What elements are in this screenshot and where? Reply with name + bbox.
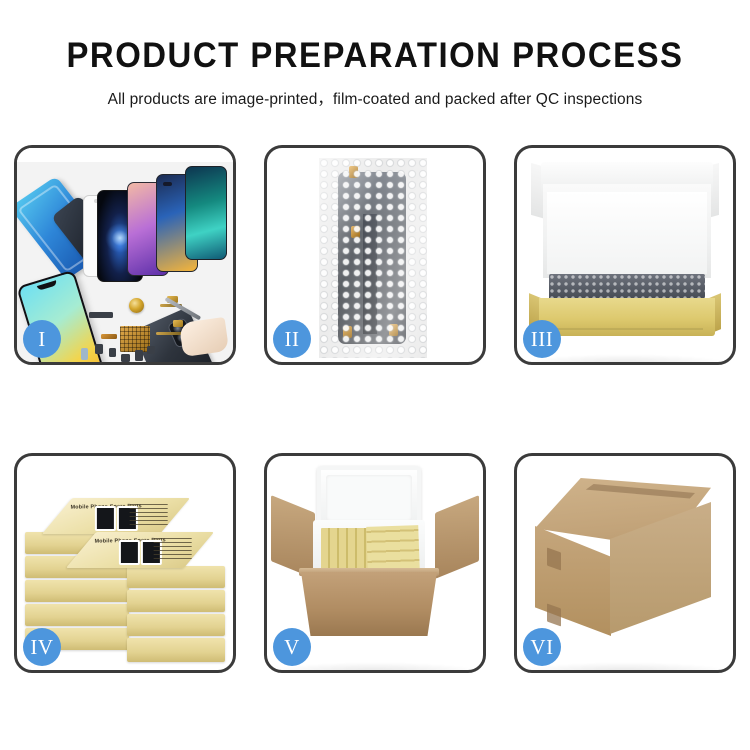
speaker-part — [129, 298, 144, 313]
process-step-panel-2: II — [264, 145, 486, 365]
step-badge-2: II — [273, 320, 311, 358]
foam-sheet-image — [547, 192, 707, 274]
bubble-bag-image — [319, 158, 427, 358]
step-badge-1: I — [23, 320, 61, 358]
connector-grid-part — [120, 326, 150, 352]
printed-box-lid-rear: Mobile Phone Spare Parts — [42, 498, 190, 534]
process-step-panel-1: I — [14, 145, 236, 365]
process-step-panel-5: V — [264, 453, 486, 673]
sim-tray-part — [81, 348, 88, 360]
small-part-1 — [95, 344, 103, 354]
bubble-wrapped-item-image — [549, 274, 705, 300]
small-part-2 — [109, 348, 116, 357]
step-badge-5: V — [273, 628, 311, 666]
copper-part — [101, 334, 117, 339]
tape-strip-lower — [547, 603, 561, 626]
small-part-5 — [147, 346, 155, 354]
process-step-panel-4: Mobile Phone Spare Parts Mobile Phone Sp… — [14, 453, 236, 673]
small-part-4 — [135, 350, 143, 361]
process-step-panel-3: III — [514, 145, 736, 365]
process-step-panel-6: VI — [514, 453, 736, 673]
gold-part-2 — [173, 320, 183, 327]
carton-front-image — [301, 572, 437, 636]
kraft-box-front-image — [539, 298, 715, 336]
flex-cable-part-2 — [156, 332, 182, 335]
page-header: PRODUCT PREPARATION PROCESS All products… — [0, 0, 750, 109]
step-badge-6: VI — [523, 628, 561, 666]
page-title: PRODUCT PREPARATION PROCESS — [23, 38, 728, 75]
process-step-grid: I II — [14, 145, 737, 673]
page-subtitle: All products are image-printed，film-coat… — [0, 87, 750, 109]
carton-flap-left — [271, 495, 315, 579]
carton-flap-right — [435, 495, 479, 579]
step-badge-4: IV — [23, 628, 61, 666]
bar-part — [89, 312, 113, 318]
small-part-3 — [121, 354, 130, 362]
phone-teal-image — [185, 166, 227, 260]
step-badge-3: III — [523, 320, 561, 358]
